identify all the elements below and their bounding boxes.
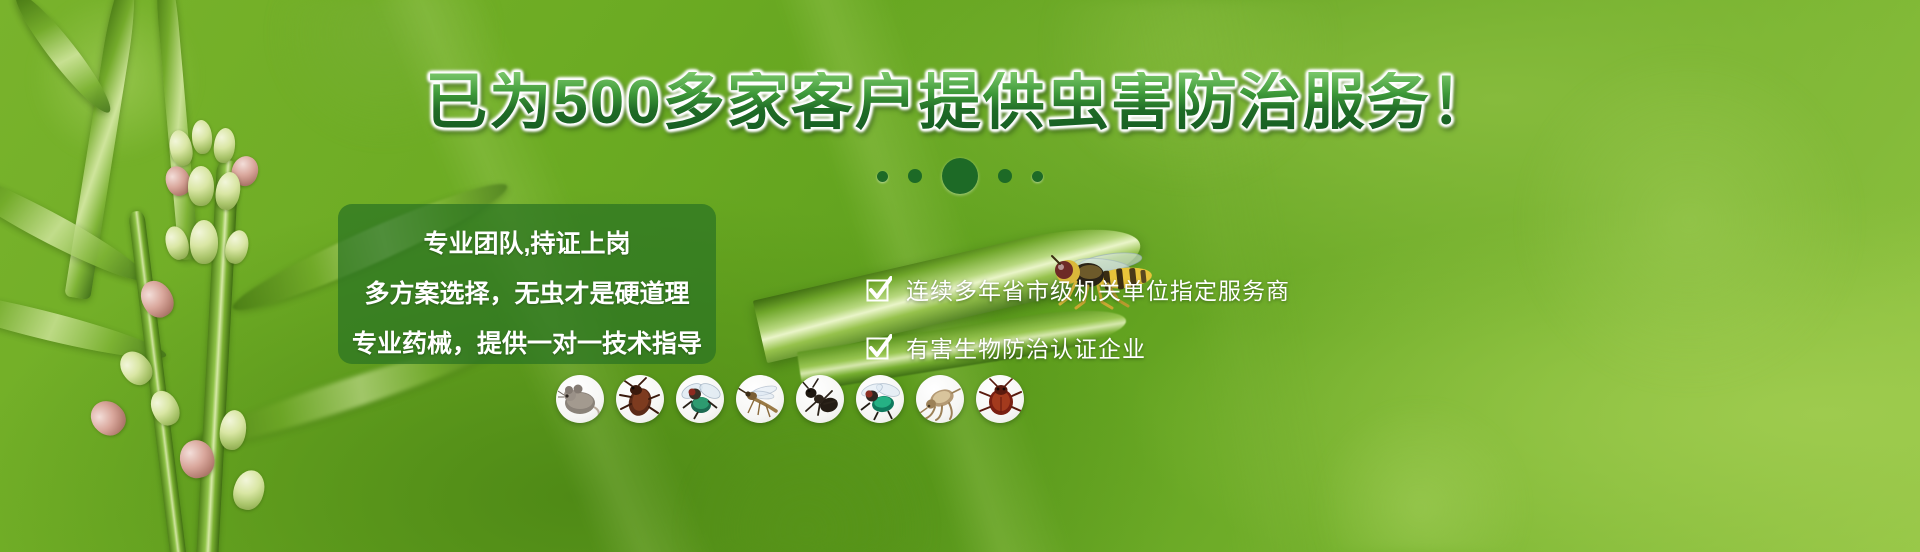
selling-point-line-3: 专业药械，提供一对一技术指导 [338,324,716,360]
cockroach-icon[interactable] [616,375,664,423]
selling-point-line-2: 多方案选择，无虫才是硬道理 [338,274,716,310]
bullet-label-2: 有害生物防治认证企业 [906,330,1146,364]
checkbox-checked-icon [866,276,892,302]
selling-points-box: 专业团队,持证上岗 多方案选择，无虫才是硬道理 专业药械，提供一对一技术指导 [338,204,716,364]
selling-point-line-1: 专业团队,持证上岗 [338,224,716,260]
greenbottle-fly-icon[interactable] [856,375,904,423]
promo-banner: 已为500多家客户提供虫害防治服务！ 已为500多家客户提供虫害防治服务！ 专业… [0,0,1920,552]
rodent-mouse-icon[interactable] [556,375,604,423]
dot-large-icon [942,158,978,194]
flea-icon[interactable] [916,375,964,423]
dot-medium-icon-2 [998,169,1012,183]
dot-small-icon-2 [1032,171,1043,182]
mosquito-icon[interactable] [736,375,784,423]
blowfly-icon[interactable] [676,375,724,423]
bedbug-icon[interactable] [976,375,1024,423]
bullet-label-1: 连续多年省市级机关单位指定服务商 [906,272,1290,306]
pest-type-icon-row [556,375,1024,423]
bullet-item-1: 连续多年省市级机关单位指定服务商 [866,272,1290,306]
ant-icon[interactable] [796,375,844,423]
dot-medium-icon [908,169,922,183]
dot-small-icon [877,171,888,182]
bullet-item-2: 有害生物防治认证企业 [866,330,1290,364]
checkbox-checked-icon-2 [866,334,892,360]
decorative-dots [0,158,1920,194]
certification-bullets: 连续多年省市级机关单位指定服务商 有害生物防治认证企业 [866,272,1290,364]
